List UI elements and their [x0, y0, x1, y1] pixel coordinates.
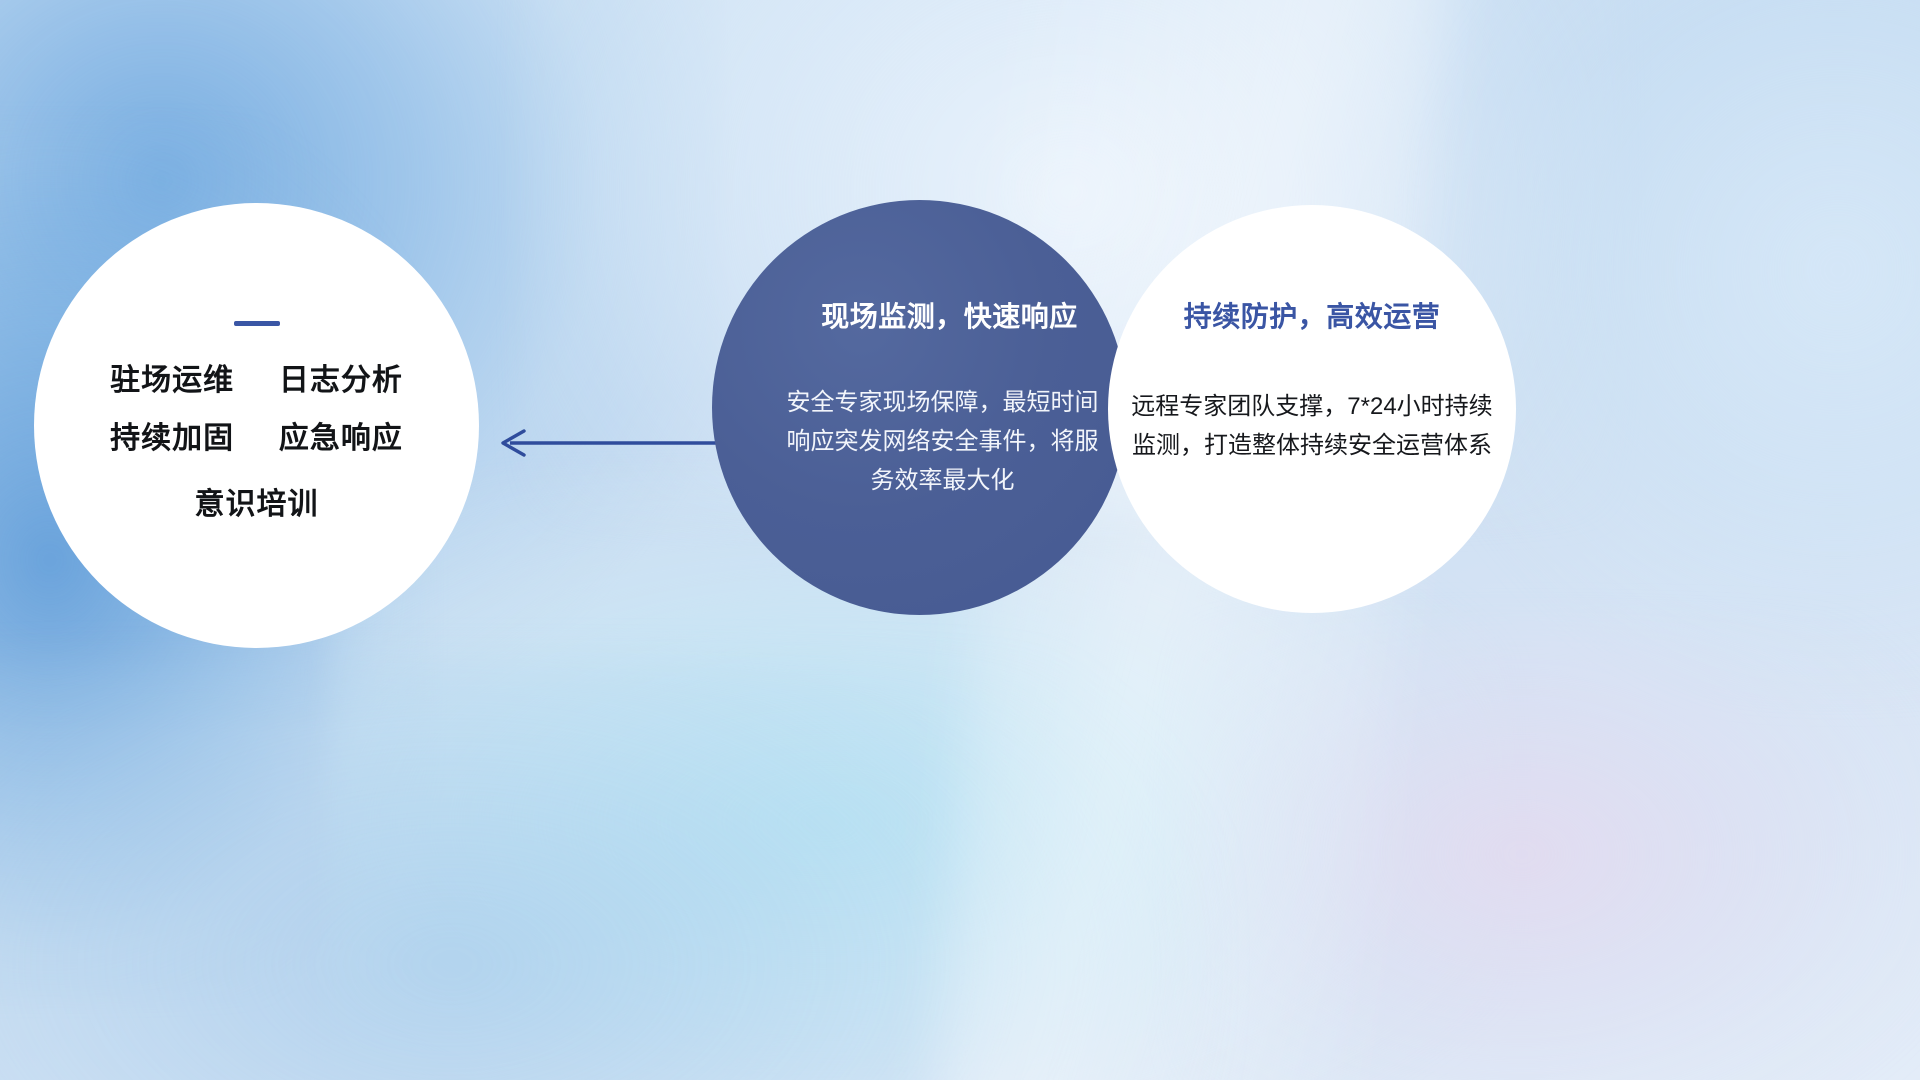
left-capability-circle: 驻场运维 日志分析 持续加固 应急响应 意识培训: [34, 203, 479, 648]
continuous-protection-title: 持续防护，高效运营: [1184, 295, 1441, 335]
capability-label: 持续加固: [110, 422, 234, 455]
onsite-monitoring-circle: 现场监测，快速响应 安全专家现场保障，最短时间响应突发网络安全事件，将服务效率最…: [712, 200, 1127, 615]
capability-label: 应急响应: [279, 422, 403, 455]
continuous-protection-circle: 持续防护，高效运营 远程专家团队支撑，7*24小时持续监测，打造整体持续安全运营…: [1108, 205, 1516, 613]
list-item: 持续加固 应急响应: [34, 424, 479, 454]
capability-label: 意识培训: [195, 488, 319, 521]
capability-label: 驻场运维: [110, 364, 234, 397]
arrow-left-icon: [488, 424, 718, 462]
continuous-protection-body: 远程专家团队支撑，7*24小时持续监测，打造整体持续安全运营体系: [1126, 387, 1498, 465]
onsite-monitoring-body: 安全专家现场保障，最短时间响应突发网络安全事件，将服务效率最大化: [778, 383, 1108, 500]
capability-list: 驻场运维 日志分析 持续加固 应急响应 意识培训: [34, 366, 479, 520]
capability-label: 日志分析: [279, 364, 403, 397]
list-item: 意识培训: [34, 490, 479, 520]
onsite-monitoring-title: 现场监测，快速响应: [821, 295, 1078, 335]
list-item: 驻场运维 日志分析: [34, 366, 479, 396]
divider-dash-icon: [234, 321, 280, 326]
